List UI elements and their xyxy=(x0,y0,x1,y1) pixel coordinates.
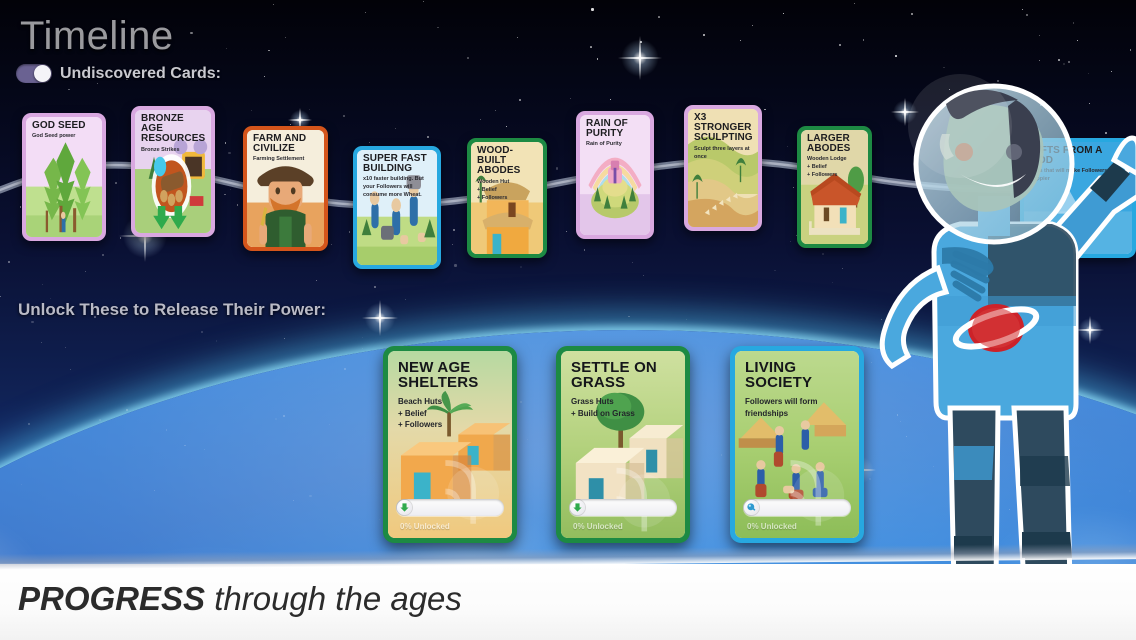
unlock-card-description: Followers will form friendships xyxy=(745,396,853,419)
unlock-card-inner: SETTLE ON GRASSGrass Huts+ Build on Gras… xyxy=(561,351,685,538)
card-inner: SUPER FAST BUILDINGx10 faster building. … xyxy=(357,150,437,265)
game-screen: Timeline Undiscovered Cards: GOD SEEDGod… xyxy=(0,0,1136,640)
timeline-card[interactable]: SUPER FAST BUILDINGx10 faster building. … xyxy=(353,146,441,269)
card-text: BRONZE AGE RESOURCESBronze Strikes xyxy=(141,114,207,155)
unlock-card[interactable]: SETTLE ON GRASSGrass Huts+ Build on Gras… xyxy=(556,346,690,543)
card-description: Rain of Purity xyxy=(586,141,646,149)
card-text: x3 STRONGER SCULPTINGSculpt three layers… xyxy=(694,113,754,162)
green-arrow-icon xyxy=(570,500,585,515)
card-description: Sculpt three layers at once xyxy=(694,146,754,162)
card-inner: x3 STRONGER SCULPTINGSculpt three layers… xyxy=(688,109,758,227)
card-description: God Seed power xyxy=(32,133,98,141)
timeline-card[interactable]: GOD SEEDGod Seed power xyxy=(22,113,106,241)
caption-text: PROGRESS through the ages xyxy=(18,580,462,618)
unlock-card-description: Beach Huts+ Belief+ Followers xyxy=(398,396,506,431)
unlock-card-title: LIVING SOCIETY xyxy=(745,360,853,391)
page-title: Timeline xyxy=(20,14,174,59)
card-text: RAIN OF PURITYRain of Purity xyxy=(586,119,646,149)
astronaut-mascot xyxy=(838,56,1136,586)
card-description: Bronze Strikes xyxy=(141,147,207,155)
timeline-card[interactable]: RAIN OF PURITYRain of Purity xyxy=(576,111,654,239)
green-arrow-icon xyxy=(397,500,412,515)
unlock-progress-label: 0% Unlocked xyxy=(747,522,797,531)
card-title: GOD SEED xyxy=(32,121,98,131)
timeline-card[interactable]: BRONZE AGE RESOURCESBronze Strikes xyxy=(131,106,215,237)
card-text: SUPER FAST BUILDINGx10 faster building. … xyxy=(363,154,433,200)
card-description: Farming Settlement xyxy=(253,156,320,164)
unlock-card-title: SETTLE ON GRASS xyxy=(571,360,679,391)
unlock-card[interactable]: NEW AGE SHELTERSBeach Huts+ Belief+ Foll… xyxy=(383,346,517,543)
toggle-switch-icon[interactable] xyxy=(16,64,52,83)
unlock-card-description: Grass Huts+ Build on Grass xyxy=(571,396,679,419)
card-description: x10 faster building. But your Followers … xyxy=(363,176,433,200)
timeline-card[interactable]: x3 STRONGER SCULPTINGSculpt three layers… xyxy=(684,105,762,231)
caption-bold: PROGRESS xyxy=(18,580,205,617)
card-title: WOOD-BUILT ABODES xyxy=(477,146,539,177)
unlock-progress-label: 0% Unlocked xyxy=(400,522,450,531)
undiscovered-cards-label: Undiscovered Cards: xyxy=(60,65,221,83)
card-inner: BRONZE AGE RESOURCESBronze Strikes xyxy=(135,110,211,233)
card-title: SUPER FAST BUILDING xyxy=(363,154,433,174)
unlock-card-title: NEW AGE SHELTERS xyxy=(398,360,506,391)
card-title: BRONZE AGE RESOURCES xyxy=(141,114,207,145)
card-description: Wooden Hut+ Belief+ Followers xyxy=(477,179,539,203)
unlock-progress-label: 0% Unlocked xyxy=(573,522,623,531)
blue-gem-icon xyxy=(744,500,759,515)
card-inner: GOD SEEDGod Seed power xyxy=(26,117,102,237)
caption-rest: through the ages xyxy=(205,580,462,617)
timeline-card[interactable]: WOOD-BUILT ABODESWooden Hut+ Belief+ Fol… xyxy=(467,138,547,258)
card-inner: WOOD-BUILT ABODESWooden Hut+ Belief+ Fol… xyxy=(471,142,543,254)
card-title: RAIN OF PURITY xyxy=(586,119,646,139)
card-inner: FARM AND CIVILIZEFarming Settlement xyxy=(247,130,324,247)
timeline-card[interactable]: FARM AND CIVILIZEFarming Settlement xyxy=(243,126,328,251)
caption-bar: PROGRESS through the ages xyxy=(0,564,1136,640)
unlock-progress-bar[interactable] xyxy=(743,499,851,516)
card-inner: RAIN OF PURITYRain of Purity xyxy=(580,115,650,235)
card-title: x3 STRONGER SCULPTING xyxy=(694,113,754,144)
undiscovered-cards-toggle-row[interactable]: Undiscovered Cards: xyxy=(16,64,221,83)
card-text: WOOD-BUILT ABODESWooden Hut+ Belief+ Fol… xyxy=(477,146,539,202)
unlock-progress-bar[interactable] xyxy=(569,499,677,516)
card-title: FARM AND CIVILIZE xyxy=(253,134,320,154)
card-text: FARM AND CIVILIZEFarming Settlement xyxy=(253,134,320,164)
unlock-section-heading: Unlock These to Release Their Power: xyxy=(18,300,326,320)
unlock-progress-bar[interactable] xyxy=(396,499,504,516)
toggle-knob xyxy=(34,65,51,82)
unlock-card-inner: NEW AGE SHELTERSBeach Huts+ Belief+ Foll… xyxy=(388,351,512,538)
card-text: GOD SEEDGod Seed power xyxy=(32,121,98,141)
